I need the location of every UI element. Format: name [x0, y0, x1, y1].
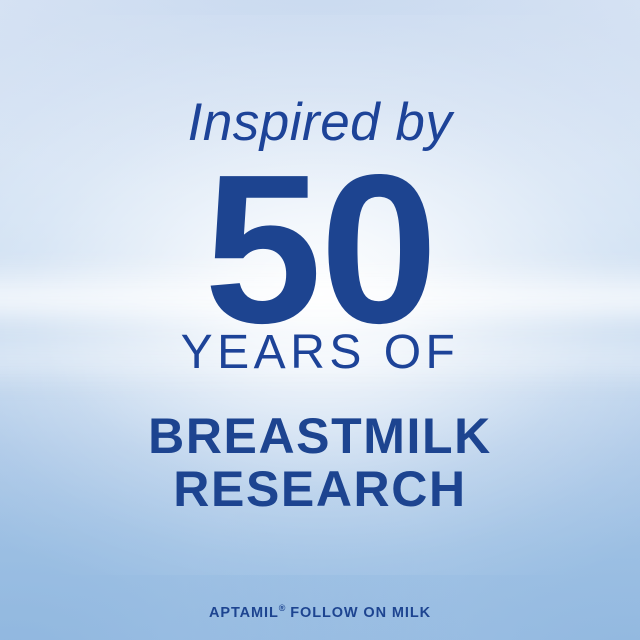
footer-product-name: FOLLOW ON MILK	[285, 605, 431, 621]
footer-product-caption: APTAMIL® FOLLOW ON MILK	[0, 604, 640, 620]
headline-topic-line-2: RESEARCH	[0, 464, 640, 514]
headline-subtitle: YEARS OF	[0, 329, 640, 377]
headline-block: Inspired by 50 YEARS OF BREASTMILK RESEA…	[0, 0, 640, 640]
headline-number-50: 50	[0, 143, 640, 355]
footer-brand-name: APTAMIL	[209, 605, 279, 621]
promo-graphic: Inspired by 50 YEARS OF BREASTMILK RESEA…	[0, 0, 640, 640]
headline-topic-line-1: BREASTMILK	[0, 411, 640, 461]
